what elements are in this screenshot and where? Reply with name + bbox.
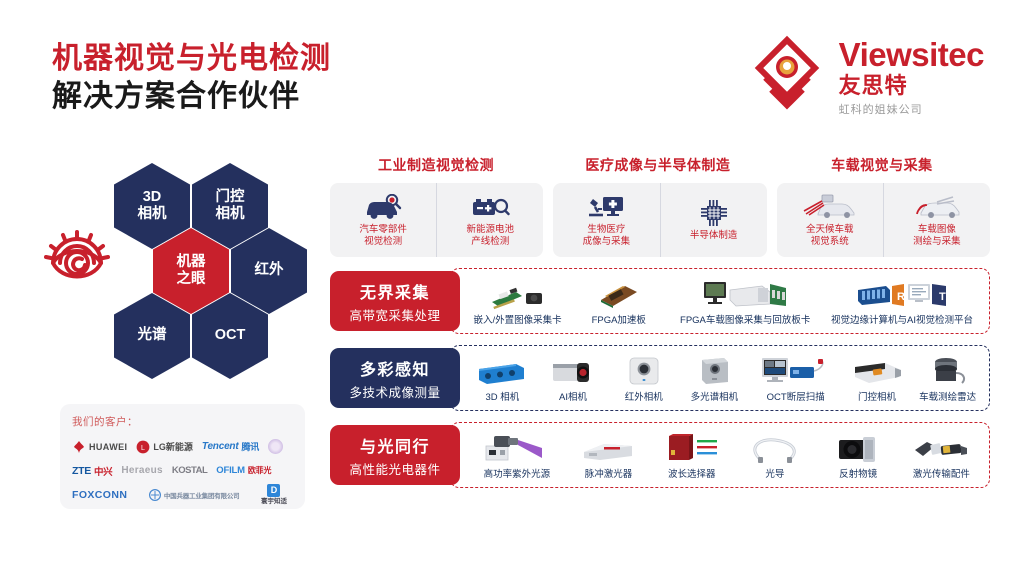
category-title-automotive: 车载视觉与采集 bbox=[774, 155, 990, 175]
tencent-logo: Tencent 腾讯 bbox=[202, 440, 259, 453]
svg-text:L: L bbox=[141, 445, 145, 452]
row-items-photonics: 高功率紫外光源 脉冲激光器 bbox=[450, 422, 990, 488]
product-label: 高功率紫外光源 bbox=[484, 466, 551, 480]
row-label-acquisition[interactable]: 无界采集 高带宽采集处理 bbox=[330, 271, 460, 331]
product-item[interactable]: FPGA车载图像采集与回放板卡 bbox=[669, 276, 821, 326]
product-label: 反射物镜 bbox=[839, 466, 877, 480]
foxconn-logo: FOXCONN bbox=[72, 489, 127, 501]
battery-inspection-icon bbox=[470, 193, 510, 221]
title-line-1: 机器视觉与光电检测 bbox=[52, 40, 331, 78]
page-title: 机器视觉与光电检测 解决方案合作伙伴 bbox=[52, 40, 331, 115]
hex-label-line1: 光谱 bbox=[138, 327, 167, 344]
ai-camera-icon bbox=[549, 353, 597, 387]
hex-label-line2: 相机 bbox=[138, 206, 167, 223]
customer-name-cn: 中兴 bbox=[94, 464, 112, 478]
hex-label-line1: OCT bbox=[215, 327, 246, 344]
hex-label-line1: 门控 bbox=[216, 189, 245, 206]
category-card-industrial: 汽车零部件视觉检测 bbox=[330, 183, 543, 257]
customer-name: OFILM bbox=[216, 465, 245, 476]
category-item-battery-inspection[interactable]: 新能源电池产线检测 bbox=[436, 183, 543, 257]
zte-logo: ZTE 中兴 bbox=[72, 464, 112, 478]
hex-label-line2: 之眼 bbox=[177, 271, 206, 288]
gear-eye-icon bbox=[40, 225, 114, 299]
row-subtitle: 高性能光电器件 bbox=[349, 459, 440, 478]
category-item-label: 半导体制造 bbox=[690, 230, 738, 242]
customer-name: ZTE bbox=[72, 465, 91, 477]
category-title-medical: 医疗成像与半导体制造 bbox=[552, 155, 764, 175]
category-cards: 汽车零部件视觉检测 bbox=[330, 183, 990, 257]
product-item[interactable]: 反射物镜 bbox=[817, 430, 900, 480]
product-item[interactable]: 嵌入/外置图像采集卡 bbox=[467, 276, 568, 326]
category-title-industrial: 工业制造视觉检测 bbox=[330, 155, 542, 175]
product-item[interactable]: FPGA加速板 bbox=[568, 276, 669, 326]
multispectral-camera-icon bbox=[694, 353, 734, 387]
chip-icon bbox=[697, 199, 731, 227]
3d-camera-icon bbox=[476, 353, 528, 387]
logo-name-cn: 友思特 bbox=[839, 73, 984, 98]
logo-name: Viewsitec bbox=[839, 38, 984, 71]
gated-camera-icon bbox=[851, 353, 903, 387]
category-headers: 工业制造视觉检测 医疗成像与半导体制造 车载视觉与采集 bbox=[330, 155, 990, 175]
row-title: 多彩感知 bbox=[360, 356, 430, 380]
product-item[interactable]: 激光传输配件 bbox=[900, 430, 983, 480]
product-row-acquisition: 无界采集 高带宽采集处理 嵌入/外置图像采 bbox=[330, 268, 990, 334]
customer-name: 寰宇知适 bbox=[261, 498, 287, 505]
uv-light-source-icon bbox=[484, 430, 550, 464]
fpga-board-icon bbox=[595, 276, 643, 310]
lidar-car-icon bbox=[800, 193, 860, 221]
product-item[interactable]: OCT断层扫描 bbox=[750, 353, 842, 403]
hex-label-line1: 机器 bbox=[177, 254, 206, 271]
wavelength-selector-icon bbox=[663, 430, 721, 464]
reflective-objective-icon bbox=[835, 430, 881, 464]
category-item-mapping-collection[interactable]: 车载图像测绘与采集 bbox=[883, 183, 990, 257]
light-guide-icon bbox=[749, 430, 801, 464]
row-subtitle: 多技术成像测量 bbox=[349, 382, 440, 401]
product-item[interactable]: 车载测绘雷达 bbox=[912, 353, 983, 403]
product-label: 光导 bbox=[765, 466, 784, 480]
product-label: 视觉边缘计算机与AI视觉检测平台 bbox=[831, 312, 973, 326]
product-item[interactable]: 波长选择器 bbox=[650, 430, 733, 480]
product-row-imaging: 多彩感知 多技术成像测量 3D 相机 bbox=[330, 345, 990, 411]
customer-name: Tencent bbox=[202, 441, 239, 452]
customer-name: FOXCONN bbox=[72, 489, 127, 501]
frame-grabber-icon bbox=[490, 276, 546, 310]
slide-root: 机器视觉与光电检测 解决方案合作伙伴 Viewsitec 友思特 虹科的姐妹公司 bbox=[0, 0, 1024, 576]
product-item[interactable]: AI相机 bbox=[538, 353, 609, 403]
category-item-bio-imaging[interactable]: 生物医疗成像与采集 bbox=[553, 183, 659, 257]
logo-text-group: Viewsitec 友思特 虹科的姐妹公司 bbox=[839, 34, 984, 117]
product-item[interactable]: 脉冲激光器 bbox=[567, 430, 650, 480]
product-label: 激光传输配件 bbox=[913, 466, 970, 480]
product-item[interactable]: 光导 bbox=[733, 430, 816, 480]
laser-delivery-icon bbox=[913, 430, 969, 464]
category-item-label: 新能源电池产线检测 bbox=[467, 224, 515, 248]
product-label: FPGA加速板 bbox=[592, 312, 646, 326]
customer-logo-row: FOXCONN 中国兵器工业集团有限公司 D 寰宇知适 bbox=[72, 484, 293, 505]
category-item-allweather-vision[interactable]: 全天候车载视觉系统 bbox=[777, 183, 883, 257]
product-label: 多光谱相机 bbox=[691, 389, 739, 403]
category-item-car-inspection[interactable]: 汽车零部件视觉检测 bbox=[330, 183, 436, 257]
oct-scanner-icon bbox=[760, 353, 832, 387]
lg-logo: L LG新能源 bbox=[136, 440, 193, 454]
category-card-automotive: 全天候车载视觉系统 车载图像测绘与采集 bbox=[777, 183, 990, 257]
hex-label-line1: 红外 bbox=[255, 262, 284, 279]
category-card-medical: 生物医疗成像与采集 bbox=[553, 183, 766, 257]
purple-circle-logo bbox=[268, 439, 283, 454]
car-inspection-icon bbox=[363, 193, 403, 221]
customer-name: Heraeus bbox=[121, 465, 163, 476]
fpga-automotive-icon bbox=[702, 276, 788, 310]
row-title: 无界采集 bbox=[360, 279, 430, 303]
hex-label-line1: 3D bbox=[138, 189, 167, 206]
product-item[interactable]: 多光谱相机 bbox=[679, 353, 750, 403]
product-item[interactable]: 门控相机 bbox=[842, 353, 913, 403]
product-item[interactable]: 3D 相机 bbox=[467, 353, 538, 403]
product-label: AI相机 bbox=[559, 389, 587, 403]
kostal-logo: KOSTAL bbox=[172, 465, 207, 476]
product-row-photonics: 与光同行 高性能光电器件 高功率紫外光源 bbox=[330, 422, 990, 488]
automotive-lidar-icon bbox=[926, 353, 970, 387]
product-label: OCT断层扫描 bbox=[767, 389, 825, 403]
edge-computer-icon: R TX bbox=[856, 276, 948, 310]
customer-name-cn: 腾讯 bbox=[241, 440, 259, 453]
logo-subtitle: 虹科的姐妹公司 bbox=[839, 101, 984, 117]
svg-text:R: R bbox=[897, 291, 905, 303]
customer-name: KOSTAL bbox=[172, 465, 207, 476]
ofilm-logo: OFILM 欧菲光 bbox=[216, 465, 271, 476]
customer-logo-row: ZTE 中兴 Heraeus KOSTAL OFILM 欧菲光 bbox=[72, 460, 293, 481]
brand-logo: Viewsitec 友思特 虹科的姐妹公司 bbox=[745, 34, 984, 118]
category-item-label: 汽车零部件视觉检测 bbox=[359, 224, 407, 248]
title-line-2: 解决方案合作伙伴 bbox=[52, 78, 331, 116]
row-label-imaging[interactable]: 多彩感知 多技术成像测量 bbox=[330, 348, 460, 408]
heraeus-logo: Heraeus bbox=[121, 465, 163, 476]
category-item-label: 生物医疗成像与采集 bbox=[583, 224, 631, 248]
hex-diagram: 3D相机 门控相机 机器之眼 红外 光谱 OCT bbox=[42, 163, 322, 378]
product-item[interactable]: 红外相机 bbox=[608, 353, 679, 403]
pulsed-laser-icon bbox=[580, 430, 636, 464]
row-title: 与光同行 bbox=[360, 433, 430, 457]
customers-title: 我们的客户： bbox=[72, 414, 293, 429]
product-label: 波长选择器 bbox=[668, 466, 716, 480]
category-item-semiconductor[interactable]: 半导体制造 bbox=[660, 183, 767, 257]
row-items-acquisition: 嵌入/外置图像采集卡 FPGA加速板 bbox=[450, 268, 990, 334]
product-label: 嵌入/外置图像采集卡 bbox=[474, 312, 562, 326]
norinco-logo: 中国兵器工业集团有限公司 bbox=[149, 489, 240, 501]
infrared-camera-icon bbox=[624, 353, 664, 387]
product-item[interactable]: R TX 视觉边缘计算机与AI视觉检测平台 bbox=[821, 276, 983, 326]
row-items-imaging: 3D 相机 AI相机 bbox=[450, 345, 990, 411]
product-label: 3D 相机 bbox=[485, 389, 519, 403]
customer-name-cn: 欧菲光 bbox=[248, 465, 271, 476]
customer-name: LG新能源 bbox=[153, 440, 193, 453]
solutions-panel: 工业制造视觉检测 医疗成像与半导体制造 车载视觉与采集 bbox=[330, 155, 990, 488]
microscope-monitor-icon bbox=[586, 193, 626, 221]
row-label-photonics[interactable]: 与光同行 高性能光电器件 bbox=[330, 425, 460, 485]
product-item[interactable]: 高功率紫外光源 bbox=[467, 430, 567, 480]
customer-logo-row: HUAWEI L LG新能源 Tencent 腾讯 bbox=[72, 436, 293, 457]
customers-panel: 我们的客户： HUAWEI L LG新能源 Tencent 腾讯 ZTE 中兴 bbox=[60, 404, 305, 509]
product-label: 车载测绘雷达 bbox=[919, 389, 976, 403]
category-item-label: 车载图像测绘与采集 bbox=[913, 224, 961, 248]
product-label: 门控相机 bbox=[858, 389, 896, 403]
mapping-car-icon bbox=[907, 193, 967, 221]
product-label: FPGA车载图像采集与回放板卡 bbox=[680, 312, 810, 326]
customer-name: HUAWEI bbox=[89, 442, 127, 452]
huawei-logo: HUAWEI bbox=[72, 440, 127, 454]
product-label: 红外相机 bbox=[625, 389, 663, 403]
diamond-layers-icon bbox=[745, 34, 829, 118]
category-item-label: 全天候车载视觉系统 bbox=[806, 224, 854, 248]
svg-text:TX: TX bbox=[939, 291, 948, 303]
hex-label-line2: 相机 bbox=[216, 206, 245, 223]
huanyu-logo: D 寰宇知适 bbox=[261, 484, 287, 505]
row-subtitle: 高带宽采集处理 bbox=[349, 305, 440, 324]
customer-name: 中国兵器工业集团有限公司 bbox=[164, 490, 240, 500]
product-label: 脉冲激光器 bbox=[585, 466, 633, 480]
